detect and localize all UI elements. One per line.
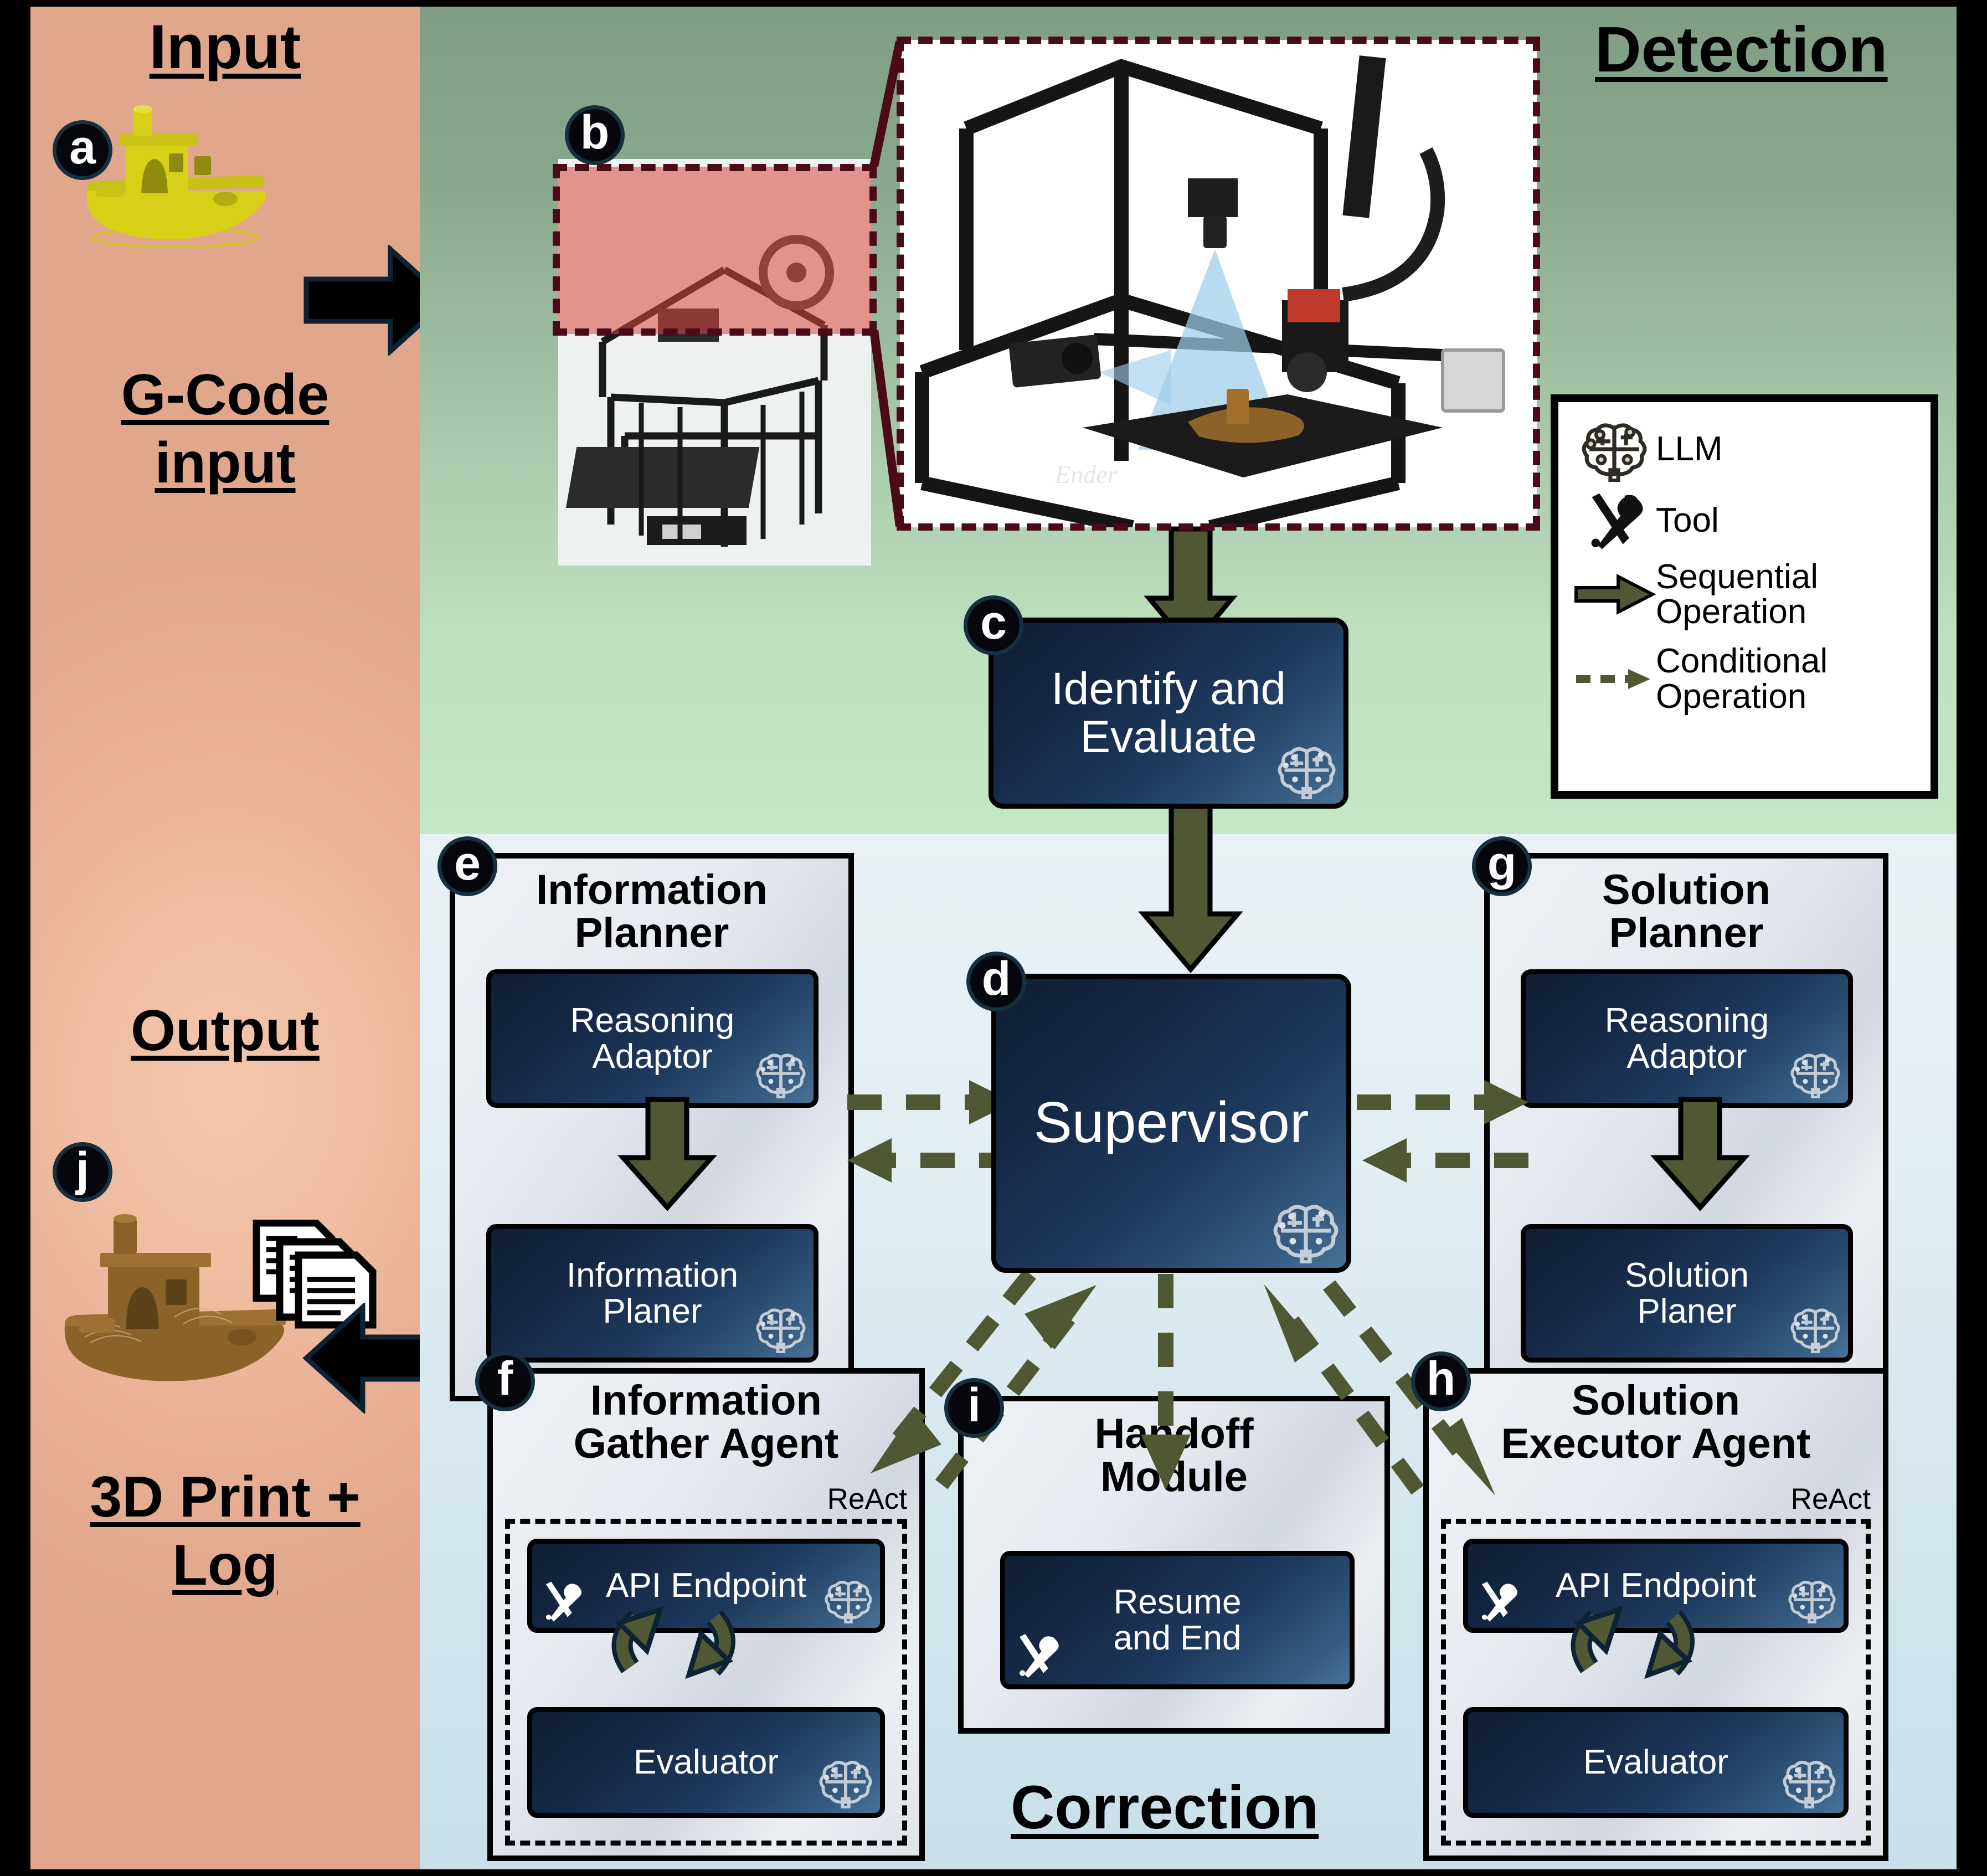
node-label: API Endpoint xyxy=(1556,1567,1756,1603)
group-information-planner: Information Planner Reasoning Adaptor In… xyxy=(450,853,854,1401)
node-label: Reasoning Adaptor xyxy=(1605,1003,1769,1075)
input-output-panel: Input G-Code input Output xyxy=(30,7,420,1869)
output-title: Output xyxy=(30,998,420,1064)
group-information-gather-agent: Information Gather Agent ReAct API Endpo… xyxy=(487,1368,925,1861)
tool-icon xyxy=(1013,1631,1061,1679)
group-solution-planner: Solution Planner Reasoning Adaptor Solut… xyxy=(1484,853,1888,1401)
solid-arrow-icon xyxy=(1573,572,1656,616)
3d-print-log-label: 3D Print + Log xyxy=(30,1463,420,1599)
legend-item-conditional: Conditional Operation xyxy=(1573,644,1921,713)
brain-icon xyxy=(1783,1755,1836,1808)
node-solution-planer[interactable]: Solution Planer xyxy=(1521,1224,1853,1363)
brain-icon xyxy=(1790,1303,1840,1353)
node-identify-and-evaluate[interactable]: Identify and Evaluate xyxy=(989,618,1348,809)
closeup-frame-box xyxy=(897,37,1540,531)
badge-d: d xyxy=(966,952,1026,1011)
badge-a: a xyxy=(53,120,112,180)
node-supervisor[interactable]: Supervisor xyxy=(991,974,1351,1273)
badge-f: f xyxy=(475,1351,535,1411)
legend-item-sequential: Sequential Operation xyxy=(1573,559,1921,629)
group-handoff-module: Handoff Module Resume and End xyxy=(958,1396,1390,1734)
node-label: Reasoning Adaptor xyxy=(570,1003,734,1075)
node-info-reasoning-adaptor[interactable]: Reasoning Adaptor xyxy=(486,969,819,1108)
node-label: Solution Planer xyxy=(1625,1257,1749,1329)
node-label: API Endpoint xyxy=(606,1567,806,1603)
group-solution-executor-agent: Solution Executor Agent ReAct API Endpoi… xyxy=(1423,1368,1888,1861)
node-solution-reasoning-adaptor[interactable]: Reasoning Adaptor xyxy=(1521,969,1853,1108)
node-solution-evaluator[interactable]: Evaluator xyxy=(1463,1707,1849,1818)
brain-icon xyxy=(1573,417,1656,482)
node-label: Evaluator xyxy=(634,1744,779,1780)
brain-icon xyxy=(825,1576,872,1623)
tool-icon xyxy=(1573,490,1656,552)
node-resume-and-end[interactable]: Resume and End xyxy=(1000,1551,1355,1689)
badge-e: e xyxy=(437,836,497,896)
detection-label: Detection xyxy=(1595,12,1888,86)
brain-icon xyxy=(1278,741,1336,799)
group-title: Information Planner xyxy=(455,868,848,954)
react-tag: ReAct xyxy=(827,1482,907,1516)
tool-icon xyxy=(1476,1579,1519,1622)
brain-icon xyxy=(756,1048,806,1098)
badge-j: j xyxy=(53,1142,112,1202)
group-title: Solution Executor Agent xyxy=(1429,1379,1883,1465)
legend-box: LLM Tool Sequential O xyxy=(1551,394,1938,799)
node-label: Evaluator xyxy=(1583,1744,1728,1780)
badge-g: g xyxy=(1472,836,1532,896)
legend-item-llm: LLM xyxy=(1573,417,1921,482)
badge-b: b xyxy=(565,105,625,165)
badge-i: i xyxy=(944,1378,1004,1438)
group-title: Solution Planner xyxy=(1490,868,1883,954)
node-label: Identify and Evaluate xyxy=(1051,665,1286,760)
react-tag: ReAct xyxy=(1791,1482,1871,1516)
brain-icon xyxy=(819,1755,872,1808)
brain-icon xyxy=(756,1303,806,1353)
crop-region-box xyxy=(553,164,877,336)
node-label: Information Planer xyxy=(567,1257,738,1329)
node-info-api-endpoint[interactable]: API Endpoint xyxy=(527,1539,885,1633)
dashed-arrow-icon xyxy=(1573,662,1656,696)
node-info-evaluator[interactable]: Evaluator xyxy=(527,1707,885,1818)
badge-c: c xyxy=(964,595,1023,655)
badge-h: h xyxy=(1411,1351,1471,1411)
group-title: Information Gather Agent xyxy=(493,1379,919,1465)
node-information-planer[interactable]: Information Planer xyxy=(486,1224,819,1363)
correction-label: Correction xyxy=(1011,1772,1319,1843)
brain-icon xyxy=(1273,1198,1339,1263)
legend-label-llm: LLM xyxy=(1656,431,1723,466)
legend-label-tool: Tool xyxy=(1656,503,1719,538)
node-label: Resume and End xyxy=(1114,1584,1242,1656)
tool-icon xyxy=(540,1579,583,1622)
legend-item-tool: Tool xyxy=(1573,490,1921,552)
brain-icon xyxy=(1790,1048,1840,1098)
node-solution-api-endpoint[interactable]: API Endpoint xyxy=(1463,1539,1849,1633)
legend-label-sequential: Sequential Operation xyxy=(1656,559,1818,629)
brain-icon xyxy=(1788,1576,1836,1623)
group-title: Handoff Module xyxy=(964,1412,1384,1498)
node-label: Supervisor xyxy=(1033,1093,1309,1153)
legend-label-conditional: Conditional Operation xyxy=(1656,644,1828,713)
gcode-input-label: G-Code input xyxy=(30,361,420,497)
input-title: Input xyxy=(30,11,420,83)
